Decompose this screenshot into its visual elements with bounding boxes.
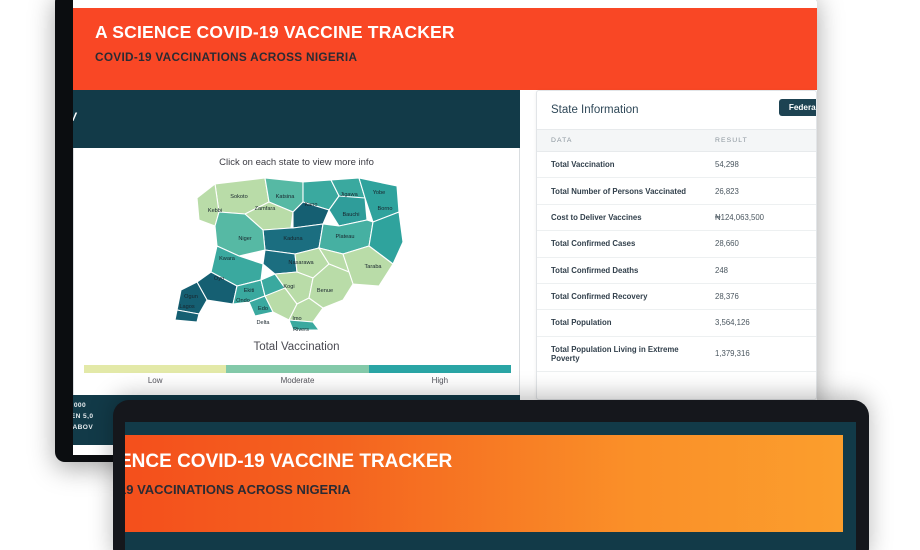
legend-swatch-low — [84, 365, 226, 373]
map-hint-text: Click on each state to view more info — [74, 148, 519, 168]
svg-text:Edo: Edo — [258, 306, 268, 312]
svg-text:Benue: Benue — [316, 288, 332, 294]
row-label: Total Population — [537, 310, 715, 336]
row-value: 28,376 — [715, 283, 816, 309]
table-row[interactable]: Total Confirmed Deaths248 — [537, 257, 816, 283]
row-value: 26,823 — [715, 178, 816, 204]
map-legend-labels: Low Moderate High — [84, 376, 511, 385]
row-value: 28,660 — [715, 231, 816, 257]
column-header-result: RESULT — [715, 130, 816, 152]
table-row[interactable]: Total Population3,564,126 — [537, 310, 816, 336]
svg-text:Ondo: Ondo — [236, 298, 250, 304]
laptop-app-header: A SCIENCE COVID-19 VACCINE TRACKER COVID… — [73, 8, 817, 90]
svg-text:Kwara: Kwara — [219, 256, 236, 262]
svg-text:Plateau: Plateau — [335, 234, 354, 240]
tablet-screen: ENCE COVID-19 VACCINE TRACKER 19 VACCINA… — [125, 422, 856, 550]
table-row[interactable]: Total Number of Persons Vaccinated26,823 — [537, 178, 816, 204]
svg-text:Kaduna: Kaduna — [283, 236, 303, 242]
table-row[interactable]: Total Confirmed Recovery28,376 — [537, 283, 816, 309]
svg-text:Zamfara: Zamfara — [254, 206, 276, 212]
svg-text:Oyo: Oyo — [213, 276, 223, 282]
state-information-title: State Information — [551, 104, 639, 116]
row-label: Total Confirmed Cases — [537, 231, 715, 257]
bottom-legend-line-2: TWEEN 5,0 — [73, 413, 93, 420]
svg-text:Yobe: Yobe — [372, 190, 385, 196]
svg-text:Niger: Niger — [238, 236, 252, 242]
table-row[interactable]: Total Population Living in Extreme Pover… — [537, 336, 816, 371]
map-card: Click on each state to view more info — [73, 148, 520, 395]
tablet-device: ENCE COVID-19 VACCINE TRACKER 19 VACCINA… — [113, 400, 869, 550]
svg-text:Kano: Kano — [304, 202, 317, 208]
svg-text:Jigawa: Jigawa — [340, 192, 358, 198]
row-value: 248 — [715, 257, 816, 283]
bottom-legend-line-1: AN 5,000 — [73, 402, 86, 409]
row-value: 3,564,126 — [715, 310, 816, 336]
column-header-data: DATA — [537, 130, 715, 152]
svg-text:Delta: Delta — [256, 320, 270, 326]
laptop-app-title: A SCIENCE COVID-19 VACCINE TRACKER — [95, 22, 817, 43]
svg-text:Kebbi: Kebbi — [207, 208, 221, 214]
bottom-legend-line-3: AND ABOV — [73, 424, 93, 431]
legend-label-high: High — [369, 376, 511, 385]
svg-text:Taraba: Taraba — [364, 264, 382, 270]
row-value: 54,298 — [715, 152, 816, 178]
tablet-app-header: ENCE COVID-19 VACCINE TRACKER 19 VACCINA… — [125, 435, 843, 532]
svg-text:Ogun: Ogun — [184, 294, 198, 300]
laptop-app-subtitle: COVID-19 VACCINATIONS ACROSS NIGERIA — [95, 50, 817, 64]
laptop-nav-bar: W — [73, 90, 520, 148]
map-legend-gradient — [84, 365, 511, 373]
legend-swatch-moderate — [226, 365, 368, 373]
laptop-screen: A SCIENCE COVID-19 VACCINE TRACKER COVID… — [73, 0, 817, 455]
federal-badge[interactable]: Federal — [779, 99, 817, 116]
svg-text:Lagos: Lagos — [179, 304, 194, 310]
row-label: Total Vaccination — [537, 152, 715, 178]
svg-text:Rivers: Rivers — [293, 327, 309, 333]
svg-text:Nasarawa: Nasarawa — [288, 260, 314, 266]
svg-text:Kogi: Kogi — [283, 284, 294, 290]
svg-text:Imo: Imo — [292, 316, 301, 322]
table-header-row: DATA RESULT — [537, 130, 816, 152]
laptop-device: A SCIENCE COVID-19 VACCINE TRACKER COVID… — [55, 0, 817, 462]
row-label: Total Confirmed Deaths — [537, 257, 715, 283]
svg-text:Katsina: Katsina — [275, 194, 295, 200]
svg-text:Borno: Borno — [377, 206, 392, 212]
table-row[interactable]: Cost to Deliver Vaccines₦124,063,500 — [537, 204, 816, 230]
table-row[interactable]: Total Confirmed Cases28,660 — [537, 231, 816, 257]
legend-label-low: Low — [84, 376, 226, 385]
map-svg[interactable]: Sokoto Zamfara Kebbi Katsina Jigawa Yobe… — [153, 168, 443, 336]
tablet-app-subtitle: 19 VACCINATIONS ACROSS NIGERIA — [125, 482, 843, 497]
table-row[interactable]: Total Vaccination54,298 — [537, 152, 816, 178]
svg-text:Sokoto: Sokoto — [230, 194, 247, 200]
legend-label-moderate: Moderate — [226, 376, 368, 385]
state-information-table: DATA RESULT Total Vaccination54,298 Tota… — [537, 129, 816, 372]
row-label: Cost to Deliver Vaccines — [537, 204, 715, 230]
row-label: Total Confirmed Recovery — [537, 283, 715, 309]
legend-swatch-high — [369, 365, 511, 373]
svg-text:Bauchi: Bauchi — [342, 212, 359, 218]
row-value: ₦124,063,500 — [715, 204, 816, 230]
state-information-header: State Information Federal — [537, 91, 816, 129]
row-value: 1,379,316 — [715, 336, 816, 371]
nigeria-choropleth-map[interactable]: Sokoto Zamfara Kebbi Katsina Jigawa Yobe… — [74, 168, 521, 343]
nav-clipped-label: W — [73, 110, 77, 124]
state-information-card: State Information Federal DATA RESULT To… — [536, 90, 817, 400]
tablet-app-title: ENCE COVID-19 VACCINE TRACKER — [125, 451, 843, 473]
row-label: Total Population Living in Extreme Pover… — [537, 336, 715, 371]
row-label: Total Number of Persons Vaccinated — [537, 178, 715, 204]
svg-text:Ekiti: Ekiti — [243, 288, 254, 294]
